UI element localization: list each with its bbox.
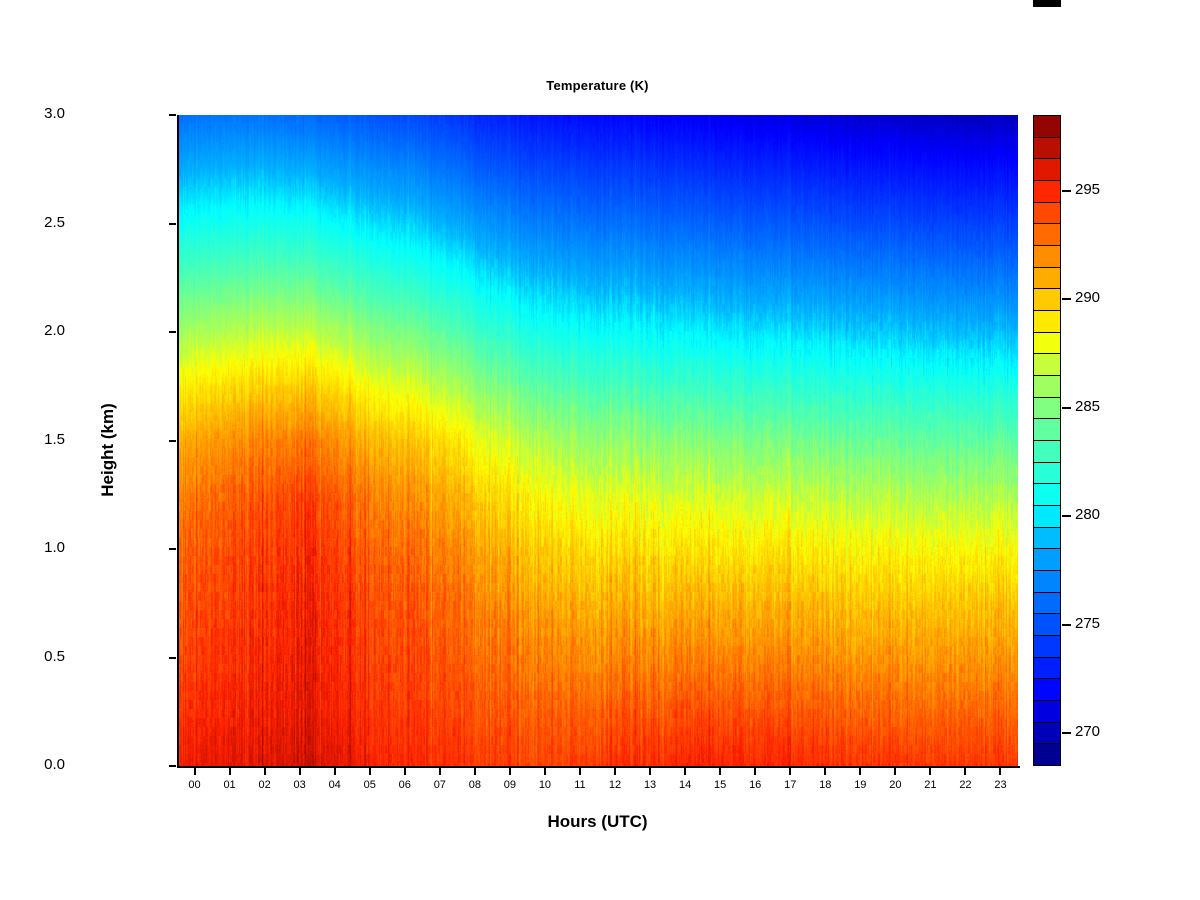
colorbar-tick — [1062, 515, 1071, 517]
x-axis-tick-label: 22 — [950, 779, 980, 791]
y-axis-tick-label: 1.5 — [44, 431, 65, 448]
y-axis-tick-label: 0.5 — [44, 648, 65, 665]
colorbar-cell — [1034, 441, 1060, 463]
colorbar-tick-label: 275 — [1075, 615, 1100, 632]
colorbar-tick-label: 270 — [1075, 723, 1100, 740]
x-axis-tick — [474, 767, 476, 775]
x-axis-tick — [509, 767, 511, 775]
x-axis-tick-label: 15 — [705, 779, 735, 791]
x-axis-tick-label: 09 — [495, 779, 525, 791]
x-axis-tick — [194, 767, 196, 775]
y-axis-tick — [169, 657, 176, 659]
colorbar-cell — [1034, 463, 1060, 485]
colorbar-cell — [1034, 528, 1060, 550]
colorbar-tick — [1062, 298, 1071, 300]
y-axis-tick — [169, 114, 176, 116]
y-axis-tick-label: 2.5 — [44, 214, 65, 231]
x-axis-tick-label: 14 — [670, 779, 700, 791]
colorbar-cell — [1034, 701, 1060, 723]
y-axis-tick — [169, 331, 176, 333]
colorbar-tick-label: 290 — [1075, 289, 1100, 306]
colorbar-tick — [1062, 624, 1071, 626]
y-axis-tick — [169, 548, 176, 550]
colorbar-tick — [1062, 190, 1071, 192]
x-axis-tick — [754, 767, 756, 775]
y-axis-title: Height (km) — [98, 390, 118, 510]
colorbar — [1033, 115, 1061, 766]
colorbar-cell — [1034, 159, 1060, 181]
colorbar-cell — [1034, 289, 1060, 311]
colorbar-cell — [1034, 116, 1060, 138]
x-axis-tick-label: 18 — [810, 779, 840, 791]
colorbar-tick-label: 295 — [1075, 181, 1100, 198]
colorbar-cell — [1034, 636, 1060, 658]
colorbar-cell — [1034, 571, 1060, 593]
colorbar-cell — [1034, 593, 1060, 615]
x-axis-tick — [649, 767, 651, 775]
colorbar-cell — [1034, 181, 1060, 203]
x-axis-tick-label: 23 — [985, 779, 1015, 791]
x-axis-tick — [719, 767, 721, 775]
x-axis-tick — [894, 767, 896, 775]
x-axis-tick-label: 16 — [740, 779, 770, 791]
colorbar-cell — [1034, 246, 1060, 268]
colorbar-tick-label: 285 — [1075, 398, 1100, 415]
y-axis-tick — [169, 440, 176, 442]
x-axis-tick-label: 04 — [320, 779, 350, 791]
page-title: Temperature (K) — [177, 78, 1018, 93]
plot-frame — [177, 115, 1020, 768]
colorbar-cell — [1034, 484, 1060, 506]
y-axis-tick-label: 3.0 — [44, 105, 65, 122]
colorbar-cell — [1034, 224, 1060, 246]
x-axis-tick-label: 02 — [250, 779, 280, 791]
y-axis-tick — [169, 765, 176, 767]
colorbar-cell — [1034, 658, 1060, 680]
x-axis-tick-label: 12 — [600, 779, 630, 791]
colorbar-cell — [1034, 203, 1060, 225]
x-axis-tick — [999, 767, 1001, 775]
x-axis-tick — [439, 767, 441, 775]
colorbar-cell — [1034, 138, 1060, 160]
colorbar-cell — [1034, 419, 1060, 441]
x-axis-tick — [579, 767, 581, 775]
colorbar-cell — [1034, 398, 1060, 420]
x-axis-title: Hours (UTC) — [177, 812, 1018, 832]
x-axis-tick-label: 08 — [460, 779, 490, 791]
temperature-time-height-figure: Temperature (K) 0.00.51.01.52.02.53.0 00… — [0, 0, 1200, 900]
colorbar-cell — [1034, 311, 1060, 333]
colorbar-tick-label: 280 — [1075, 506, 1100, 523]
x-axis-tick-label: 17 — [775, 779, 805, 791]
colorbar-tick — [1062, 732, 1071, 734]
y-axis-tick-label: 2.0 — [44, 322, 65, 339]
x-axis-tick — [299, 767, 301, 775]
x-axis-tick — [264, 767, 266, 775]
x-axis-tick-label: 21 — [915, 779, 945, 791]
colorbar-cell — [1034, 506, 1060, 528]
x-axis-tick — [789, 767, 791, 775]
x-axis-tick — [404, 767, 406, 775]
x-axis-tick — [964, 767, 966, 775]
y-axis-tick — [169, 223, 176, 225]
x-axis-tick — [229, 767, 231, 775]
x-axis-tick-label: 03 — [285, 779, 315, 791]
x-axis-tick — [929, 767, 931, 775]
x-axis-tick — [369, 767, 371, 775]
colorbar-cell — [1034, 268, 1060, 290]
colorbar-cell — [1034, 354, 1060, 376]
x-axis-tick-label: 01 — [215, 779, 245, 791]
x-axis-tick-label: 20 — [880, 779, 910, 791]
colorbar-cell — [1034, 679, 1060, 701]
x-axis-tick — [544, 767, 546, 775]
x-axis-tick-label: 11 — [565, 779, 595, 791]
colorbar-cell — [1034, 723, 1060, 745]
x-axis-tick-label: 07 — [425, 779, 455, 791]
colorbar-cell — [1034, 549, 1060, 571]
colorbar-cell — [1034, 744, 1060, 765]
image-artifact-mark — [1033, 0, 1061, 7]
x-axis-tick — [614, 767, 616, 775]
colorbar-cell — [1034, 333, 1060, 355]
x-axis-tick-label: 19 — [845, 779, 875, 791]
colorbar-tick — [1062, 407, 1071, 409]
x-axis-tick-label: 13 — [635, 779, 665, 791]
x-axis-tick-label: 05 — [355, 779, 385, 791]
x-axis-tick — [859, 767, 861, 775]
colorbar-cell — [1034, 376, 1060, 398]
colorbar-cell — [1034, 614, 1060, 636]
y-axis-tick-label: 1.0 — [44, 539, 65, 556]
x-axis-tick-label: 06 — [390, 779, 420, 791]
x-axis-tick — [684, 767, 686, 775]
x-axis-tick-label: 00 — [180, 779, 210, 791]
x-axis-tick — [334, 767, 336, 775]
x-axis-tick — [824, 767, 826, 775]
y-axis-tick-label: 0.0 — [44, 756, 65, 773]
x-axis-tick-label: 10 — [530, 779, 560, 791]
